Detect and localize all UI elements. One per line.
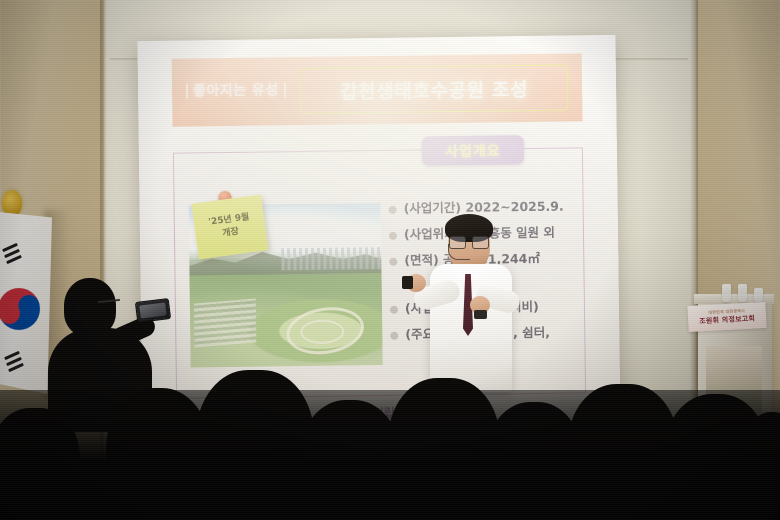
podium: 대한민국 대전광역시 조원휘 의정보고회: [698, 300, 772, 428]
slide-title-box: 갑천생태호수공원 조성: [300, 65, 569, 115]
photo-city-skyline: [281, 247, 381, 270]
bullet-dot-icon: [389, 232, 397, 240]
podium-front-poster: [706, 346, 762, 420]
slide-footer-note: 합대 … 건립추진 중: [176, 401, 586, 423]
bullet-dot-icon: [389, 206, 397, 214]
bullet-dot-icon: [390, 305, 398, 313]
headset-microphone-icon: [448, 244, 470, 260]
bullet-dot-icon: [390, 331, 398, 339]
wall-seam-right: [690, 0, 698, 445]
flag-finial-icon: [2, 190, 22, 216]
wristwatch-icon: [474, 310, 487, 319]
projection-screen: 좋아지는 유성 갑천생태호수공원 조성 사업개요: [137, 35, 620, 436]
wall-seam-left: [100, 0, 107, 460]
bullet-value: 2022~2025.9.: [465, 199, 563, 215]
brand-tag-label: 좋아지는 유성: [193, 79, 279, 100]
section-pill: 사업개요: [422, 135, 524, 165]
taeguk-symbol-icon: [0, 282, 46, 337]
podium-banner: 대한민국 대전광역시 조원휘 의정보고회: [687, 302, 766, 332]
presentation-clicker-icon: [402, 276, 413, 289]
flag-cloth: [0, 212, 52, 394]
projected-slide: 좋아지는 유성 갑천생태호수공원 조성 사업개요: [137, 35, 620, 436]
bullet-dot-icon: [389, 258, 397, 266]
sticky-note: '25년 9월 개장: [191, 194, 268, 259]
brand-bar-left: [186, 83, 188, 98]
water-bottle: [738, 284, 747, 302]
presentation-scene: 좋아지는 유성 갑천생태호수공원 조성 사업개요: [0, 0, 780, 520]
slide-title: 갑천생태호수공원 조성: [340, 75, 528, 104]
presenter: [418, 214, 536, 389]
slide-brand-tag: 좋아지는 유성: [186, 79, 286, 100]
sticky-note-line2: 개장: [222, 226, 240, 242]
section-label: 사업개요: [445, 140, 501, 161]
slide-title-band: 좋아지는 유성 갑천생태호수공원 조성: [172, 53, 583, 126]
water-bottle: [754, 288, 763, 302]
south-korea-flag: [0, 196, 60, 396]
brand-bar-right: [284, 82, 286, 97]
podium-banner-title: 조원휘 의정보고회: [699, 314, 755, 327]
photo-buildings: [194, 298, 257, 347]
water-bottle: [722, 284, 731, 302]
